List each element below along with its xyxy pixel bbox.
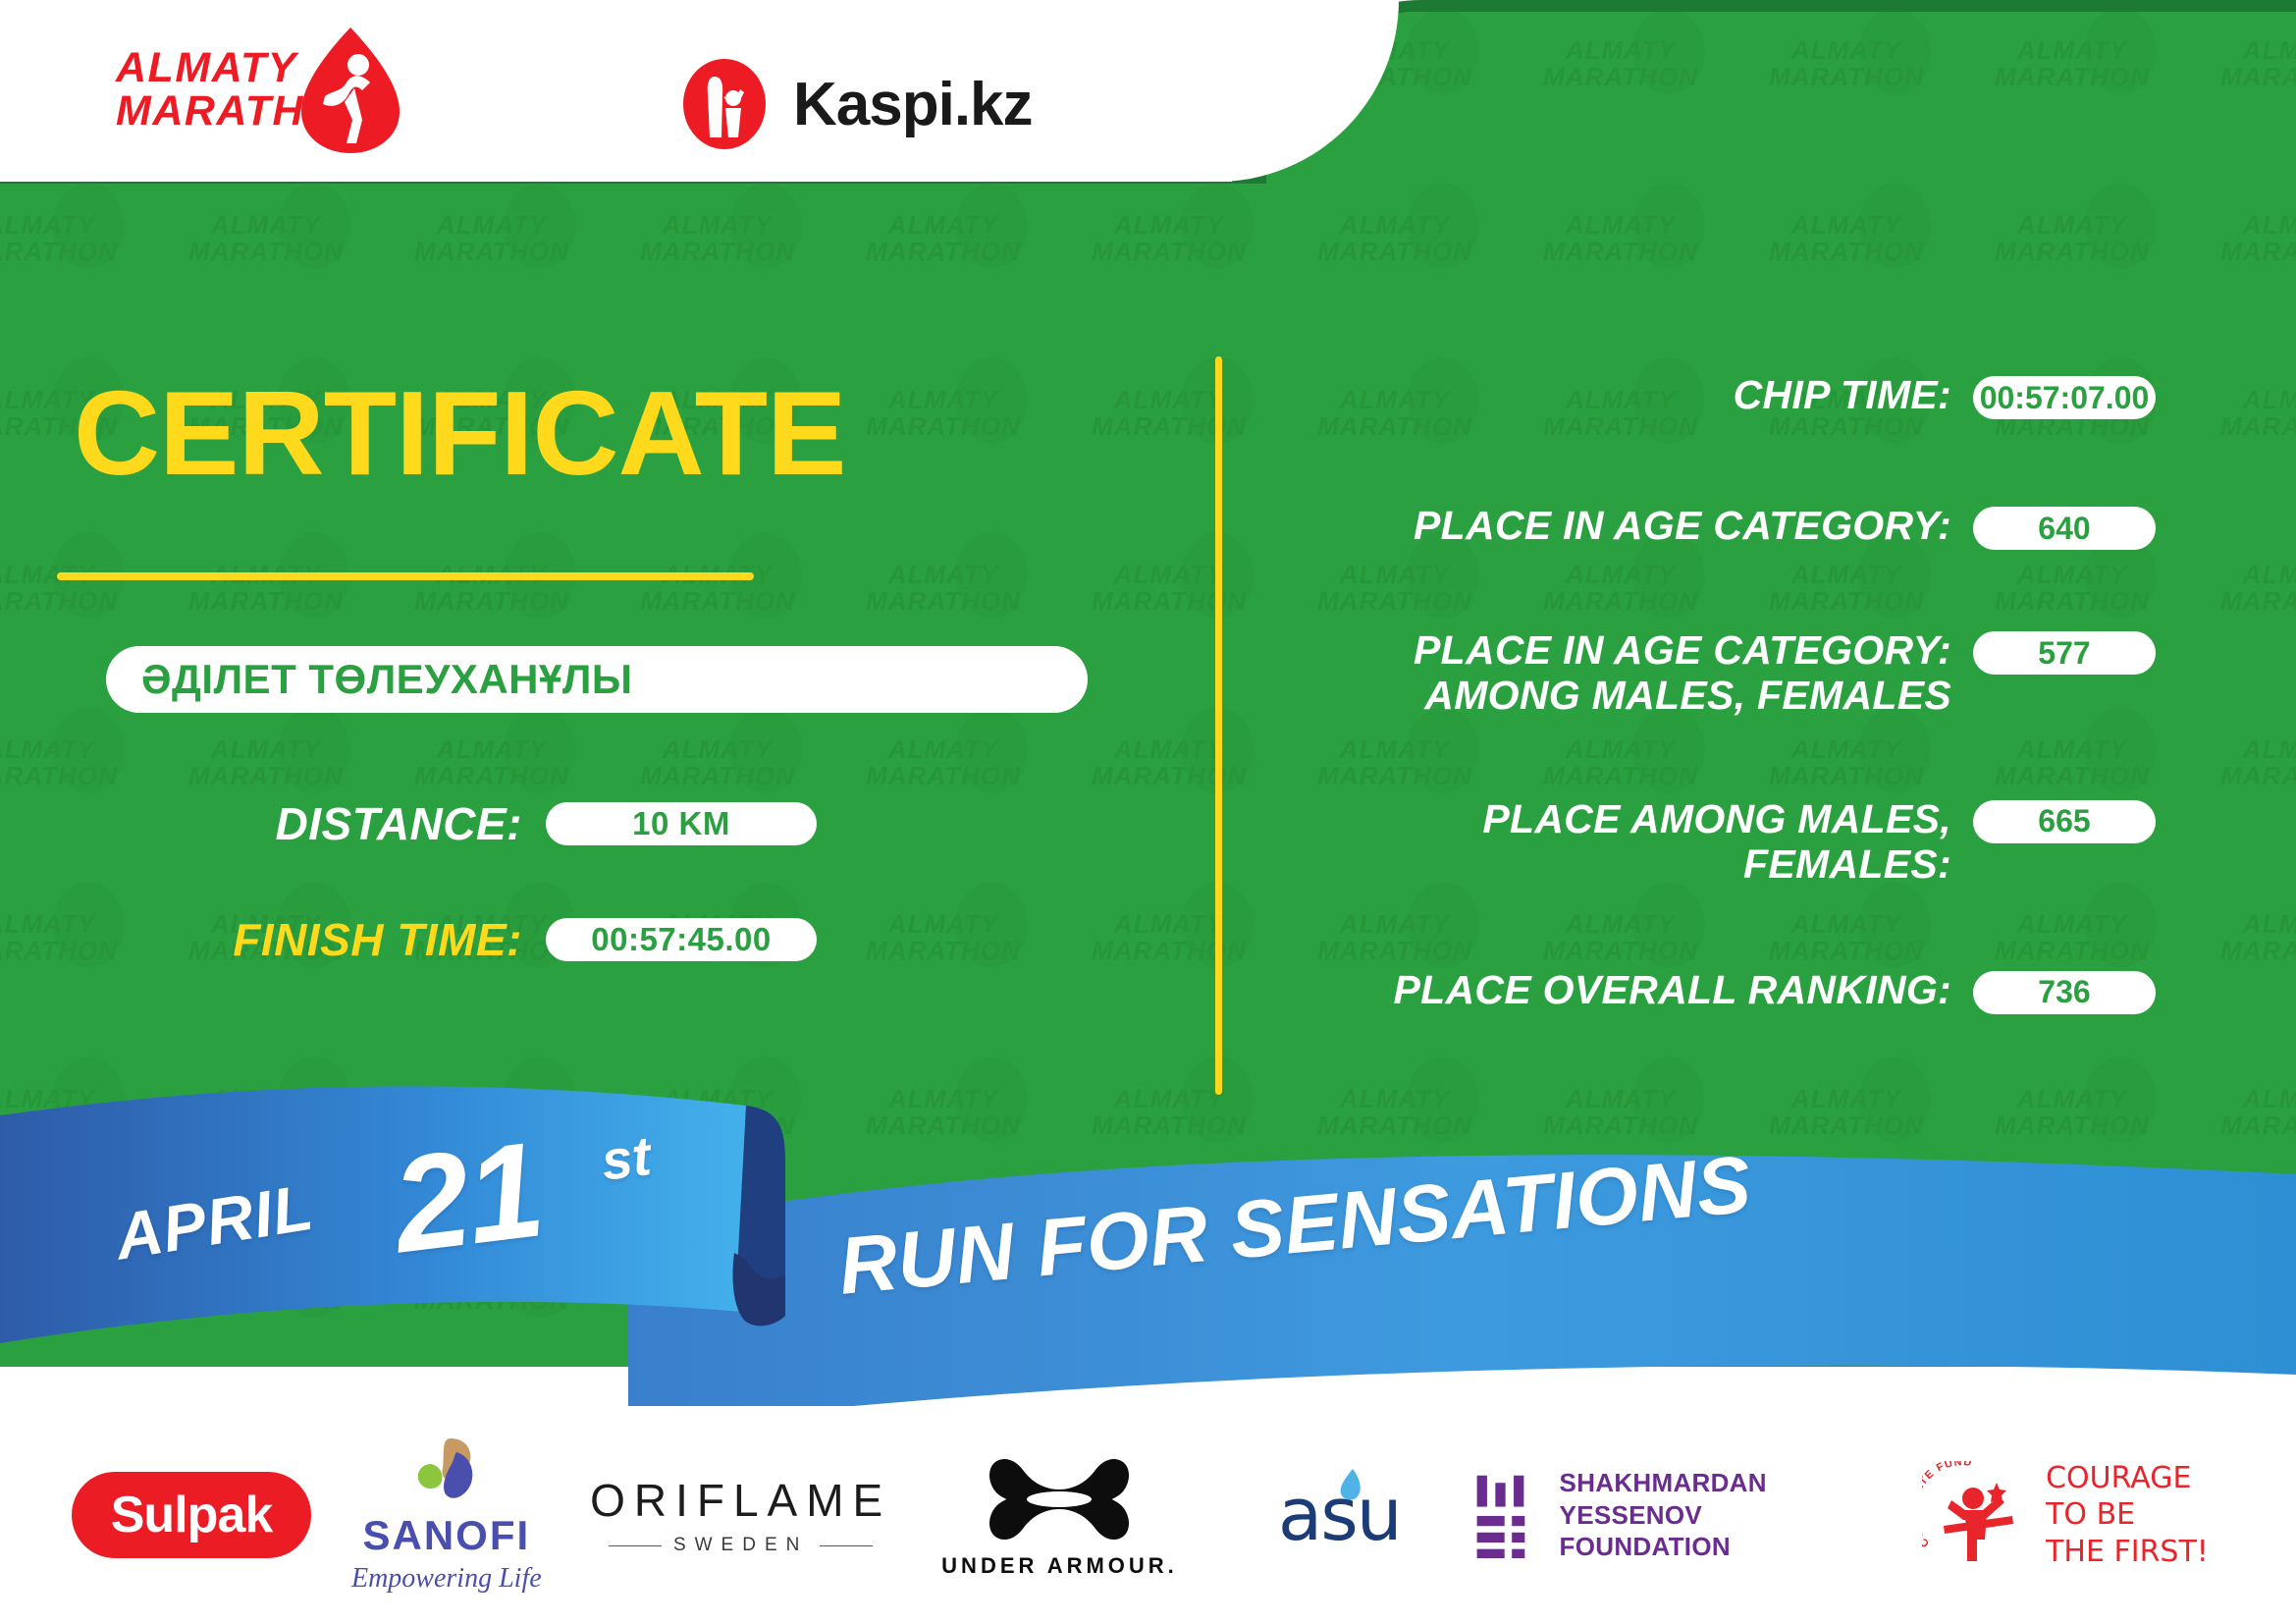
yessenov-mark-icon — [1471, 1469, 1537, 1561]
stat-label: PLACE IN AGE CATEGORY: — [1276, 504, 1973, 549]
sponsor-sanofi: SANOFI Empowering Life — [324, 1436, 569, 1595]
watermark-text: ALMATY MARATHON — [1076, 562, 1262, 616]
sulpak-label: Sulpak — [72, 1472, 312, 1558]
watermark-text: ALMATY MARATHON — [624, 736, 811, 790]
stat-label: CHIP TIME: — [1276, 373, 1973, 418]
stat-value: 736 — [2038, 974, 2090, 1010]
kaspi-label: Kaspi.kz — [793, 70, 1033, 139]
sponsor-under-armour: UNDER ARMOUR. — [912, 1452, 1206, 1579]
watermark-text: ALMATY MARATHON — [173, 212, 359, 266]
courage-label-line1: COURAGE — [2046, 1460, 2209, 1497]
ribbon-day: 21 — [385, 1111, 550, 1284]
distance-value: 10 KM — [632, 805, 730, 842]
stat-value: 640 — [2038, 511, 2090, 547]
stats-column: CHIP TIME: 00:57:07.00 PLACE IN AGE CATE… — [1276, 373, 2199, 1014]
stat-row-place-overall-ranking: PLACE OVERALL RANKING: 736 — [1276, 968, 2199, 1014]
watermark-text: ALMATY MARATHON — [850, 736, 1037, 790]
page-title: CERTIFICATE — [74, 373, 845, 493]
stat-row-chip-time: CHIP TIME: 00:57:07.00 — [1276, 373, 2199, 419]
sponsor-asu: asu — [1216, 1473, 1462, 1557]
distance-row: DISTANCE: 10 KM — [179, 797, 817, 850]
stat-label: PLACE AMONG MALES,FEMALES: — [1276, 797, 1973, 888]
courage-label-line3: THE FIRST! — [2046, 1534, 2209, 1571]
courage-label-line2: TO BE — [2046, 1496, 2209, 1534]
sponsor-oriflame: ORIFLAME SWEDEN — [579, 1474, 903, 1556]
watermark-text: ALMATY MARATHON — [2205, 911, 2296, 965]
watermark-text: ALMATY MARATHON — [2205, 387, 2296, 441]
watermark-text: ALMATY MARATHON — [1527, 37, 1714, 91]
watermark-text: ALMATY MARATHON — [1979, 37, 2165, 91]
vertical-divider — [1215, 356, 1222, 1095]
watermark-text: ALMATY MARATHON — [399, 736, 585, 790]
sponsor-yessenov-foundation: SHAKHMARDAN YESSENOV FOUNDATION — [1471, 1467, 1894, 1563]
distance-value-pill: 10 KM — [546, 802, 817, 845]
distance-label: DISTANCE: — [179, 797, 522, 850]
finish-time-value: 00:57:45.00 — [591, 921, 771, 958]
under-armour-label: UNDER ARMOUR. — [941, 1553, 1178, 1579]
finish-time-label: FINISH TIME: — [179, 913, 522, 966]
sanofi-mark-icon — [401, 1436, 492, 1507]
participant-name-value: ӘДІЛЕТ ТӨЛЕУХАНҰЛЫ — [141, 656, 632, 703]
participant-name-field: ӘДІЛЕТ ТӨЛЕУХАНҰЛЫ — [106, 646, 1088, 713]
sponsor-sulpak: Sulpak — [69, 1472, 314, 1558]
oriflame-label: ORIFLAME — [590, 1474, 891, 1527]
finish-time-row: FINISH TIME: 00:57:45.00 — [179, 913, 817, 966]
watermark-text: ALMATY MARATHON — [850, 562, 1037, 616]
watermark-text: ALMATY MARATHON — [1979, 212, 2165, 266]
ribbon-ordinal: st — [598, 1123, 654, 1193]
watermark-text: ALMATY MARATHON — [1076, 911, 1262, 965]
kaspi-logo: Kaspi.kz — [677, 57, 1033, 151]
watermark-text: ALMATY MARATHON — [850, 212, 1037, 266]
watermark-text: ALMATY MARATHON — [2205, 562, 2296, 616]
watermark-text: ALMATY MARATHON — [0, 212, 133, 266]
watermark-text: ALMATY MARATHON — [1076, 736, 1262, 790]
sponsor-bar: Sulpak SANOFI Empowering Life ORIFLAME S… — [0, 1406, 2296, 1624]
watermark-text: ALMATY MARATHON — [0, 562, 133, 616]
stat-row-place-age-category-among: PLACE IN AGE CATEGORY:AMONG MALES, FEMAL… — [1276, 628, 2199, 719]
sanofi-tagline: Empowering Life — [351, 1563, 542, 1595]
stat-value-pill: 640 — [1973, 507, 2156, 550]
stat-label: PLACE IN AGE CATEGORY:AMONG MALES, FEMAL… — [1276, 628, 1973, 719]
stat-value-pill: 577 — [1973, 631, 2156, 675]
watermark-text: ALMATY MARATHON — [0, 911, 133, 965]
watermark-text: ALMATY MARATHON — [624, 562, 811, 616]
finish-time-value-pill: 00:57:45.00 — [546, 918, 817, 961]
runner-drop-icon — [297, 26, 403, 155]
yessenov-label-line1: SHAKHMARDAN YESSENOV — [1560, 1467, 1895, 1531]
watermark-text: ALMATY MARATHON — [1076, 387, 1262, 441]
stat-value: 577 — [2038, 635, 2090, 672]
watermark-text: ALMATY MARATHON — [1753, 212, 1940, 266]
almaty-marathon-logo: ALMATY MARATHON — [116, 47, 371, 134]
title-underline — [57, 572, 754, 580]
stat-value-pill: 736 — [1973, 971, 2156, 1014]
watermark-text: ALMATY MARATHON — [399, 562, 585, 616]
watermark-text: ALMATY MARATHON — [850, 911, 1037, 965]
watermark-text: ALMATY MARATHON — [173, 736, 359, 790]
stat-value: 00:57:07.00 — [1980, 380, 2150, 416]
stat-value-pill: 00:57:07.00 — [1973, 376, 2156, 419]
oriflame-tagline: SWEDEN — [590, 1535, 891, 1556]
certificate-page: ALMATY MARATHONALMATY MARATHONALMATY MAR… — [0, 0, 2296, 1624]
watermark-text: ALMATY MARATHON — [1527, 212, 1714, 266]
courage-runner-icon: CORPORATE FUND — [1922, 1461, 2028, 1569]
asu-droplet-icon — [1335, 1467, 1364, 1506]
watermark-text: ALMATY MARATHON — [173, 562, 359, 616]
stat-value: 665 — [2038, 803, 2090, 839]
kaspi-people-icon — [677, 57, 772, 151]
stat-row-place-among-males-females: PLACE AMONG MALES,FEMALES: 665 — [1276, 797, 2199, 888]
watermark-text: ALMATY MARATHON — [2205, 37, 2296, 91]
under-armour-icon — [986, 1452, 1133, 1543]
watermark-text: ALMATY MARATHON — [624, 212, 811, 266]
watermark-text: ALMATY MARATHON — [850, 387, 1037, 441]
stat-label: PLACE OVERALL RANKING: — [1276, 968, 1973, 1013]
sanofi-label: SANOFI — [351, 1512, 542, 1559]
stat-row-place-age-category: PLACE IN AGE CATEGORY: 640 — [1276, 504, 2199, 550]
watermark-text: ALMATY MARATHON — [2205, 212, 2296, 266]
watermark-text: ALMATY MARATHON — [0, 736, 133, 790]
watermark-text: ALMATY MARATHON — [1753, 37, 1940, 91]
yessenov-label-line2: FOUNDATION — [1560, 1531, 1895, 1563]
watermark-text: ALMATY MARATHON — [2205, 736, 2296, 790]
stat-value-pill: 665 — [1973, 800, 2156, 843]
sponsor-courage-fund: CORPORATE FUND COURAGE TO BE THE FIRST! — [1903, 1460, 2227, 1571]
watermark-text: ALMATY MARATHON — [399, 212, 585, 266]
